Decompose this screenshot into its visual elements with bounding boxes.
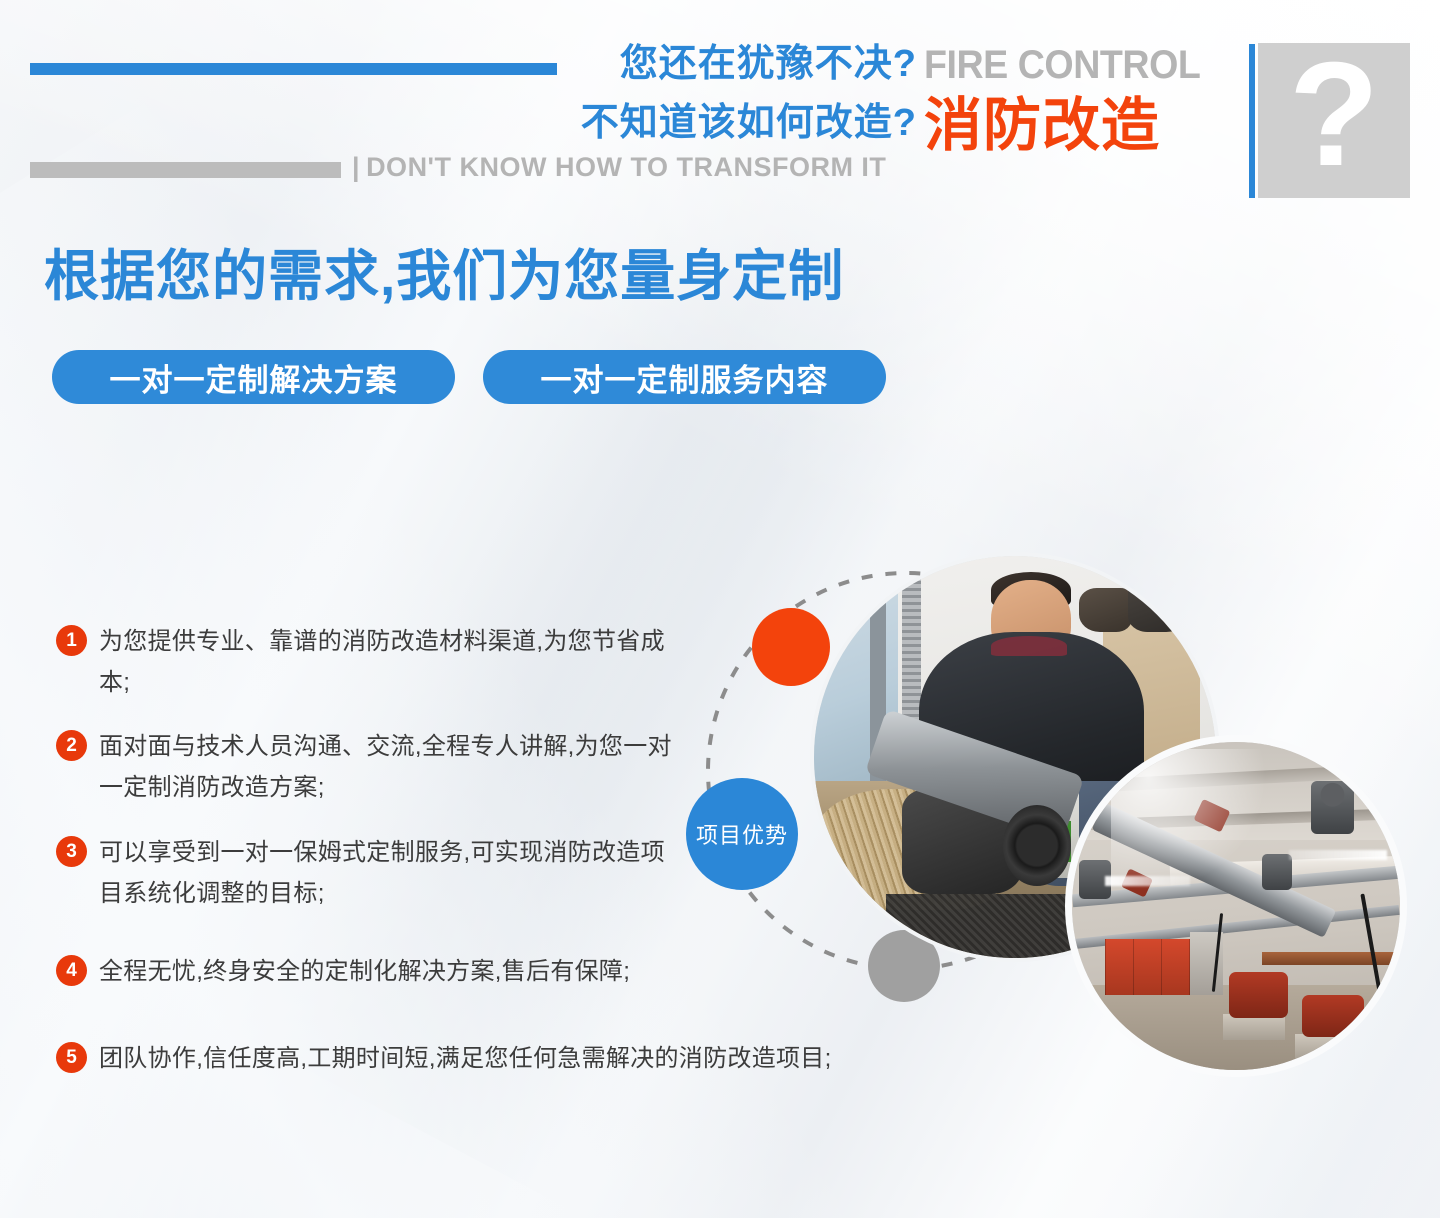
- brand-chinese: 消防改造: [924, 97, 1160, 155]
- english-bar-glyph: |: [352, 154, 360, 181]
- photo-pump-room-pipes: [1072, 742, 1400, 1070]
- feature-number-badge: 5: [56, 1042, 87, 1073]
- pill-custom-service[interactable]: 一对一定制服务内容: [483, 350, 886, 404]
- feature-text: 团队协作,信任度高,工期时间短,满足您任何急需解决的消防改造项目;: [99, 1038, 832, 1079]
- feature-number-badge: 1: [56, 625, 87, 656]
- pill-button-group: 一对一定制解决方案 一对一定制服务内容: [52, 350, 886, 404]
- feature-number-badge: 4: [56, 955, 87, 986]
- list-item: 4 全程无忧,终身安全的定制化解决方案,售后有保障;: [56, 951, 630, 992]
- gray-rule: [30, 162, 341, 178]
- brand-english: FIRE CONTROL: [924, 45, 1200, 85]
- list-item: 3 可以享受到一对一保姆式定制服务,可实现消防改造项目系统化调整的目标;: [56, 832, 689, 914]
- feature-number-badge: 2: [56, 730, 87, 761]
- list-item: 2 面对面与技术人员沟通、交流,全程专人讲解,为您一对一定制消防改造方案;: [56, 726, 689, 808]
- feature-text: 面对面与技术人员沟通、交流,全程专人讲解,为您一对一定制消防改造方案;: [99, 726, 689, 808]
- feature-number-badge: 3: [56, 836, 87, 867]
- header-english-subtitle: |DON'T KNOW HOW TO TRANSFORM IT: [352, 154, 886, 181]
- orbit-badge-advantages: 项目优势: [686, 778, 798, 890]
- header-question-line2: 不知道该如何改造?: [581, 104, 917, 142]
- pill-custom-solution[interactable]: 一对一定制解决方案: [52, 350, 455, 404]
- question-mark-box: ?: [1258, 43, 1410, 198]
- english-subtitle-text: DON'T KNOW HOW TO TRANSFORM IT: [366, 152, 886, 182]
- list-item: 1 为您提供专业、靠谱的消防改造材料渠道,为您节省成本;: [56, 621, 689, 703]
- question-accent-bar: [1249, 44, 1255, 198]
- page-title: 根据您的需求,我们为您量身定制: [44, 249, 844, 304]
- list-item: 5 团队协作,信任度高,工期时间短,满足您任何急需解决的消防改造项目;: [56, 1038, 832, 1079]
- feature-text: 可以享受到一对一保姆式定制服务,可实现消防改造项目系统化调整的目标;: [99, 832, 689, 914]
- orbit-badge-label: 项目优势: [696, 818, 788, 850]
- page-header: 您还在犹豫不决? 不知道该如何改造? |DON'T KNOW HOW TO TR…: [0, 0, 1440, 215]
- blue-rule: [30, 63, 557, 75]
- header-question-line1: 您还在犹豫不决?: [620, 45, 917, 83]
- feature-text: 全程无忧,终身安全的定制化解决方案,售后有保障;: [99, 951, 630, 992]
- promo-page: 您还在犹豫不决? 不知道该如何改造? |DON'T KNOW HOW TO TR…: [0, 0, 1440, 1218]
- question-mark-icon: ?: [1289, 41, 1379, 189]
- feature-text: 为您提供专业、靠谱的消防改造材料渠道,为您节省成本;: [99, 621, 689, 703]
